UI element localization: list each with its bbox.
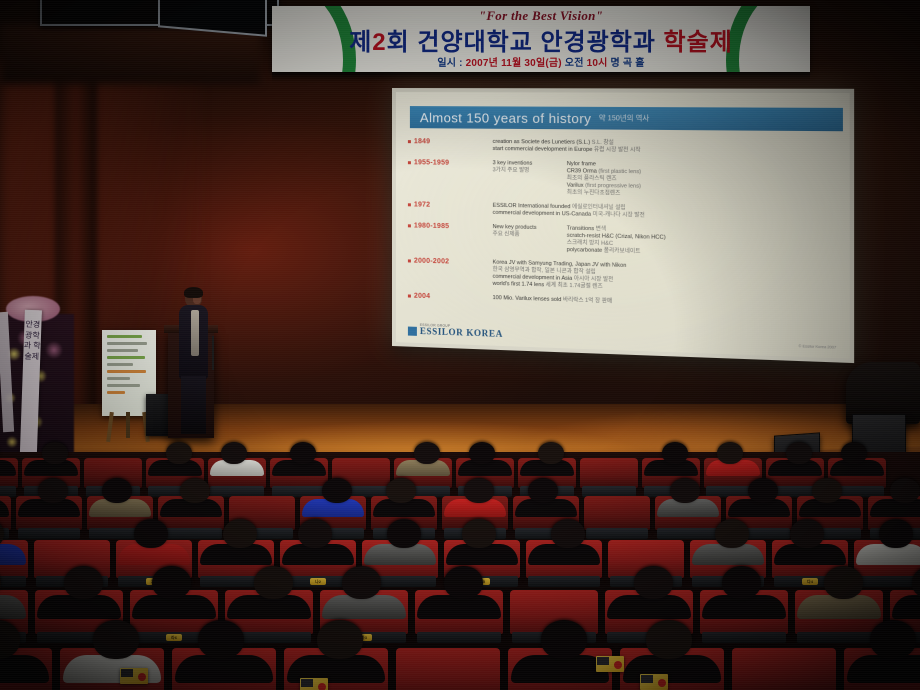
- audience-member-head: [166, 442, 192, 464]
- slide-text-kr: (first plastic lens): [597, 169, 641, 176]
- poster-line: [107, 391, 125, 394]
- essilor-logo-main: ESSILOR KOREA: [420, 327, 503, 339]
- banner-subtitle: 일시 : 2007년 11월 30일(금) 오전 10시 명 곡 홀: [272, 54, 810, 69]
- audience-member-shoulders: [175, 655, 273, 683]
- audience-member-head: [469, 442, 495, 464]
- poster-line: [107, 342, 147, 345]
- audience-member-head: [387, 519, 421, 548]
- poster-line: [107, 349, 138, 352]
- essilor-logo: ESSILOR GROUP ESSILOR KOREA: [408, 323, 503, 339]
- banner-subtitle-place: 명 곡 홀: [608, 58, 645, 69]
- presenter-legs: [181, 376, 206, 434]
- slide-row: 1972ESSILOR International founded 에실로인터내…: [396, 201, 850, 224]
- audience-member-head: [322, 478, 352, 503]
- slide-text-en: CR39 Orma: [567, 168, 597, 175]
- audience-member-head: [464, 478, 494, 503]
- slide-text-en: world's first 1.74 lens: [493, 281, 545, 289]
- banner-shadow: [272, 72, 810, 82]
- wreath-ribbon-text: 안경광학과 학술제: [23, 310, 42, 363]
- slide-bullet-icon: [408, 259, 411, 262]
- slide-text-line: 주요 신제품: [493, 231, 557, 239]
- poster-line: [107, 356, 145, 359]
- audience-member-head: [786, 442, 812, 464]
- slide-column-right: Nylor frameCR39 Orma (first plastic lens…: [567, 161, 850, 201]
- auditorium-seat[interactable]: [584, 496, 650, 530]
- slide-text-line: 3가지 주요 발명: [493, 167, 557, 175]
- slide-text-en: commercial development in US-Canada: [493, 210, 591, 218]
- seat-base: [528, 576, 600, 587]
- seat-base: [856, 576, 920, 587]
- slide-text-en: Transitions: [567, 226, 594, 233]
- slide-text-kr: 최초의 누진다초점렌즈: [567, 190, 621, 197]
- slide-detail: 100 Mio. Varilux lenses sold 바리락스 1억 장 판…: [493, 295, 850, 313]
- audience-member-head: [824, 566, 863, 599]
- slide-text-en: New key products: [493, 224, 537, 231]
- audience-member-head: [790, 519, 824, 548]
- audience-member-shoulders: [623, 655, 721, 683]
- slide-two-columns: New key products주요 신제품Transitions 변색scra…: [493, 224, 850, 261]
- essilor-logo-mark: [408, 327, 417, 336]
- easel-leg: [126, 412, 130, 438]
- presenter-shirt: [191, 310, 199, 356]
- audience-member-head: [890, 478, 920, 503]
- slide-year: 1980-1985: [414, 222, 493, 252]
- audience-member-head: [254, 566, 293, 599]
- slide-year: 1955-1959: [414, 159, 493, 195]
- audience-member-head: [462, 519, 496, 548]
- slide-text-kr: 3가지 주요 발명: [493, 167, 530, 174]
- presenter-hair: [184, 287, 203, 298]
- slide-detail: New key products주요 신제품Transitions 변색scra…: [493, 224, 850, 261]
- microphone-stand: [212, 336, 214, 370]
- banner-title-mid: 회 건양대학교 안경광학과: [387, 29, 664, 56]
- banner-title: 제2회 건양대학교 안경광학과 학술제: [272, 22, 810, 57]
- audience-member-head: [290, 442, 316, 464]
- auditorium-seat[interactable]: [732, 648, 836, 690]
- audience-member-head: [102, 478, 132, 503]
- slide-year: 1849: [414, 138, 493, 153]
- slide-detail: ESSILOR International founded 에실로인터내셔널 설…: [493, 203, 850, 224]
- booklet-graphic: [121, 669, 133, 677]
- poster-line: [107, 335, 142, 338]
- program-booklet[interactable]: [300, 678, 328, 690]
- banner-subtitle-time: 10시: [587, 58, 608, 69]
- audience-member-head: [223, 519, 257, 548]
- booklet-accent: [138, 673, 146, 681]
- audience-member-head: [444, 566, 483, 599]
- audience-member-head: [93, 620, 139, 659]
- audience-member-head: [38, 478, 68, 503]
- auditorium-seat[interactable]: [580, 458, 638, 488]
- seat-base: [657, 528, 719, 539]
- banner-subtitle-pre: 일시 :: [437, 58, 465, 69]
- slide-text-kr: 아시아 시장 발전: [572, 276, 613, 283]
- slide-text-kr: 미국-캐나다 시장 발전: [591, 212, 645, 219]
- slide-detail: 3 key inventions3가지 주요 발명Nylor frameCR39…: [493, 160, 850, 201]
- slide-body: 1849creation as Societe des Lunetiers (S…: [396, 138, 850, 320]
- audience-member-head: [748, 478, 778, 503]
- audience-member-head: [538, 442, 564, 464]
- booklet-graphic: [597, 657, 609, 665]
- slide-title: Almost 150 years of history: [420, 110, 592, 126]
- banner-title-tail: 학술제: [664, 29, 733, 56]
- audience-member-head: [717, 442, 743, 464]
- slide-text-kr: 에실로인터내셔널 설립: [570, 204, 625, 211]
- program-booklet[interactable]: [120, 668, 148, 684]
- audience-member-head: [298, 519, 332, 548]
- ceiling-structure: [0, 24, 260, 84]
- slide-text-en: creation as Societe des Lunetiers (S.L.): [493, 139, 591, 146]
- poster-line: [107, 363, 133, 366]
- presenter: [176, 288, 210, 436]
- slide-text-en: Nylor frame: [567, 161, 596, 167]
- projection-screen: Almost 150 years of history 약 150년의 역사 1…: [392, 88, 854, 363]
- event-banner: "For the Best Vision" 제2회 건양대학교 안경광학과 학술…: [272, 6, 810, 72]
- slide-text-kr: 유럽 시장 발전 시작: [592, 147, 640, 154]
- auditorium-photo: "For the Best Vision" 제2회 건양대학교 안경광학과 학술…: [0, 0, 920, 690]
- audience-seating-area: 가1가3나2나5다1다4라2라6마3마7: [0, 452, 920, 690]
- booklet-accent: [318, 683, 326, 690]
- slide-row: 2000-2002Korea JV with Samyung Trading, …: [396, 257, 850, 298]
- seat-number-plate: 나2: [310, 578, 326, 585]
- audience-member-head: [551, 519, 585, 548]
- audience-member-shoulders: [511, 655, 609, 683]
- booklet-accent: [614, 661, 622, 669]
- slide-text-kr: S.L. 창설: [590, 140, 614, 146]
- slide-text-kr: 스크래치 방지 H&C: [567, 240, 613, 247]
- audience-member-head: [386, 478, 416, 503]
- slide-text-kr: 폴리카보네이트: [602, 248, 640, 255]
- audience-member-head: [541, 620, 587, 659]
- slide-column-left: 3 key inventions3가지 주요 발명: [493, 160, 557, 197]
- audience-member-shoulders: [847, 655, 920, 683]
- seat-base: [18, 528, 80, 539]
- slide-two-columns: 3 key inventions3가지 주요 발명Nylor frameCR39…: [493, 160, 850, 201]
- poster-line: [107, 377, 130, 380]
- slide-text-en: polycarbonate: [567, 247, 602, 254]
- slide-year: 2004: [414, 293, 493, 302]
- slide-column-left: New key products주요 신제품: [493, 224, 557, 254]
- slide-bullet-icon: [408, 224, 411, 227]
- seat-number-plate: 라6: [166, 634, 182, 641]
- audience-member-head: [42, 442, 68, 464]
- slide-text-en: 100 Mio. Varilux lenses sold: [493, 295, 562, 303]
- audience-member-head: [180, 478, 210, 503]
- slide-bullet-icon: [408, 203, 411, 206]
- banner-title-prefix: 제: [349, 29, 372, 56]
- slide-row: 1955-19593 key inventions3가지 주요 발명Nylor …: [396, 159, 850, 201]
- slide-text-en: start commercial development in Europe: [493, 146, 593, 153]
- audience-member-head: [221, 442, 247, 464]
- booklet-graphic: [641, 675, 653, 683]
- slide-text-kr: 바리락스 1억 장 판매: [561, 297, 612, 305]
- audience-member-head: [528, 478, 558, 503]
- banner-title-number: 2: [372, 29, 386, 56]
- audience-member-head: [64, 566, 103, 599]
- slide-detail: creation as Societe des Lunetiers (S.L.)…: [493, 139, 850, 157]
- seat-number-plate: 다4: [802, 578, 818, 585]
- slide-title-bar: Almost 150 years of history 약 150년의 역사: [410, 106, 843, 131]
- slide-column-right: Transitions 변색scratch-resist H&C (Crizal…: [567, 226, 850, 261]
- slide-year: 1972: [414, 201, 493, 217]
- slide-detail: Korea JV with Samyung Trading, Japan JV …: [493, 259, 850, 298]
- slide-text-kr: 최초의 플라스틱 렌즈: [567, 175, 617, 182]
- poster-line: [107, 384, 140, 387]
- slide-footer: © Essilor Korea 2007: [798, 344, 836, 350]
- seat-base: [702, 632, 786, 643]
- audience-member-head: [715, 519, 749, 548]
- booklet-accent: [658, 679, 666, 687]
- slide-bullet-icon: [408, 140, 411, 143]
- slide-row: 1980-1985New key products주요 신제품Transitio…: [396, 222, 850, 261]
- audience-member-head: [812, 478, 842, 503]
- audience-member-head: [317, 620, 363, 659]
- audience-member-head: [152, 566, 191, 599]
- audience-member-head: [670, 478, 700, 503]
- easel-leg: [106, 412, 114, 442]
- audience-member-head: [342, 566, 381, 599]
- seat-base: [160, 528, 222, 539]
- audience-member-head: [870, 620, 916, 659]
- presentation-slide: Almost 150 years of history 약 150년의 역사 1…: [396, 92, 850, 359]
- slide-bullet-icon: [408, 294, 411, 297]
- banner-subtitle-mid: 오전: [562, 58, 587, 69]
- auditorium-seat[interactable]: [396, 648, 500, 690]
- slide-text-en: Varilux: [567, 182, 584, 188]
- audience-member-head: [662, 442, 688, 464]
- slide-text-kr: (first progressive lens): [584, 183, 641, 190]
- slide-title-korean: 약 150년의 역사: [599, 113, 649, 124]
- audience-member-head: [634, 566, 673, 599]
- poster-line: [107, 370, 146, 373]
- audience-member-shoulders: [856, 544, 920, 565]
- slide-year: 2000-2002: [414, 258, 493, 288]
- slide-bullet-icon: [408, 161, 411, 164]
- slide-text-en: 3 key inventions: [493, 160, 533, 167]
- seat-base: [586, 528, 648, 539]
- slide-text-kr: 주요 신제품: [493, 231, 520, 238]
- slide-text-line: 100 Mio. Varilux lenses sold 바리락스 1억 장 판…: [493, 295, 850, 313]
- booklet-graphic: [301, 679, 313, 687]
- seat-base: [0, 576, 26, 587]
- audience-member-head: [134, 519, 168, 548]
- audience-member-head: [879, 519, 913, 548]
- seat-base: [417, 632, 501, 643]
- program-booklet[interactable]: [596, 656, 624, 672]
- slide-text-kr: 세계 최초 1.74굴절 렌즈: [544, 282, 603, 290]
- seat-base: [797, 632, 881, 643]
- audience-member-head: [198, 620, 244, 659]
- audience-member-head: [722, 566, 761, 599]
- program-booklet[interactable]: [640, 674, 668, 690]
- audience-member-head: [414, 442, 440, 464]
- slide-row: 1849creation as Societe des Lunetiers (S…: [396, 138, 850, 157]
- slide-text-kr: 변색: [594, 226, 606, 232]
- audience-member-head: [646, 620, 692, 659]
- banner-subtitle-date: 2007년 11월 30일(금): [466, 58, 562, 69]
- essilor-logo-text: ESSILOR GROUP ESSILOR KOREA: [420, 324, 503, 339]
- audience-member-head: [841, 442, 867, 464]
